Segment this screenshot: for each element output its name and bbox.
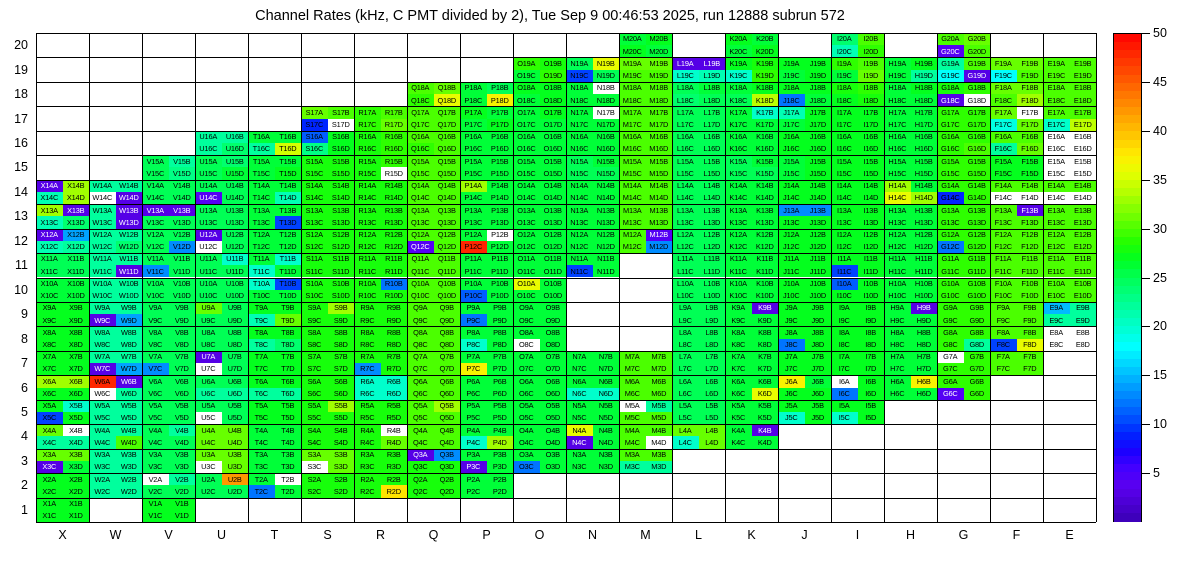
y-tick-1: 1 <box>10 503 28 517</box>
colorbar-tick <box>1142 131 1150 132</box>
x-tick-V: V <box>164 528 172 542</box>
y-tick-4: 4 <box>10 429 28 443</box>
x-tick-U: U <box>217 528 226 542</box>
colorbar-label-20: 20 <box>1153 319 1167 333</box>
y-tick-8: 8 <box>10 332 28 346</box>
colorbar-label-40: 40 <box>1153 124 1167 138</box>
colorbar: 5101520253035404550 <box>1113 33 1193 522</box>
grid-hline <box>36 351 1096 352</box>
grid-hline <box>36 424 1096 425</box>
x-tick-Q: Q <box>429 528 439 542</box>
colorbar-tick <box>1142 33 1150 34</box>
grid-hline <box>36 106 1096 107</box>
y-tick-11: 11 <box>10 258 28 272</box>
y-tick-20: 20 <box>10 38 28 52</box>
grid-hline <box>36 498 1096 499</box>
x-tick-N: N <box>588 528 597 542</box>
grid-hline <box>36 522 1096 523</box>
x-tick-X: X <box>58 528 66 542</box>
y-tick-14: 14 <box>10 185 28 199</box>
y-tick-3: 3 <box>10 454 28 468</box>
colorbar-label-50: 50 <box>1153 26 1167 40</box>
colorbar-tick <box>1142 424 1150 425</box>
x-tick-O: O <box>535 528 545 542</box>
x-tick-M: M <box>640 528 650 542</box>
y-tick-17: 17 <box>10 112 28 126</box>
colorbar-label-45: 45 <box>1153 75 1167 89</box>
grid-hline <box>36 57 1096 58</box>
y-tick-9: 9 <box>10 307 28 321</box>
grid-hline <box>36 400 1096 401</box>
x-tick-F: F <box>1013 528 1021 542</box>
grid-hline <box>36 473 1096 474</box>
y-tick-13: 13 <box>10 209 28 223</box>
grid-hline <box>36 155 1096 156</box>
x-tick-G: G <box>959 528 969 542</box>
colorbar-tick <box>1142 473 1150 474</box>
y-tick-12: 12 <box>10 234 28 248</box>
grid-hline <box>36 82 1096 83</box>
grid-hline <box>36 180 1096 181</box>
x-tick-E: E <box>1065 528 1073 542</box>
y-tick-7: 7 <box>10 356 28 370</box>
y-tick-6: 6 <box>10 381 28 395</box>
x-tick-P: P <box>482 528 490 542</box>
x-tick-H: H <box>906 528 915 542</box>
colorbar-label-10: 10 <box>1153 417 1167 431</box>
grid-hline <box>36 326 1096 327</box>
colorbar-tick <box>1142 82 1150 83</box>
colorbar-tick <box>1142 326 1150 327</box>
grid-hline <box>36 253 1096 254</box>
colorbar-tick <box>1142 375 1150 376</box>
grid-hline <box>36 449 1096 450</box>
x-tick-R: R <box>376 528 385 542</box>
y-tick-2: 2 <box>10 478 28 492</box>
colorbar-label-30: 30 <box>1153 222 1167 236</box>
colorbar-label-25: 25 <box>1153 271 1167 285</box>
colorbar-segment <box>1114 513 1141 522</box>
page-title: Channel Rates (kHz, C PMT divided by 2),… <box>0 8 1100 24</box>
colorbar-label-5: 5 <box>1153 466 1160 480</box>
colorbar-label-35: 35 <box>1153 173 1167 187</box>
grid-hline <box>36 33 1096 34</box>
x-tick-J: J <box>801 528 807 542</box>
grid-hline <box>36 229 1096 230</box>
y-tick-10: 10 <box>10 283 28 297</box>
grid-hline <box>36 204 1096 205</box>
x-tick-T: T <box>271 528 279 542</box>
x-tick-L: L <box>695 528 702 542</box>
colorbar-tick <box>1142 180 1150 181</box>
y-tick-5: 5 <box>10 405 28 419</box>
x-tick-W: W <box>110 528 122 542</box>
colorbar-label-15: 15 <box>1153 368 1167 382</box>
x-tick-K: K <box>747 528 755 542</box>
x-tick-I: I <box>856 528 859 542</box>
grid-vline <box>1096 33 1097 522</box>
grid-hline <box>36 375 1096 376</box>
colorbar-gradient <box>1113 33 1142 522</box>
y-tick-16: 16 <box>10 136 28 150</box>
colorbar-tick <box>1142 229 1150 230</box>
y-tick-19: 19 <box>10 63 28 77</box>
colorbar-tick <box>1142 278 1150 279</box>
channel-rate-heatmap: M20AM20BM20CM20DK20AK20BK20CK20DI20AI20B… <box>36 33 1096 522</box>
y-tick-15: 15 <box>10 160 28 174</box>
grid-hline <box>36 278 1096 279</box>
grid-hline <box>36 302 1096 303</box>
grid-lines <box>36 33 1096 522</box>
x-tick-S: S <box>323 528 331 542</box>
grid-hline <box>36 131 1096 132</box>
y-tick-18: 18 <box>10 87 28 101</box>
